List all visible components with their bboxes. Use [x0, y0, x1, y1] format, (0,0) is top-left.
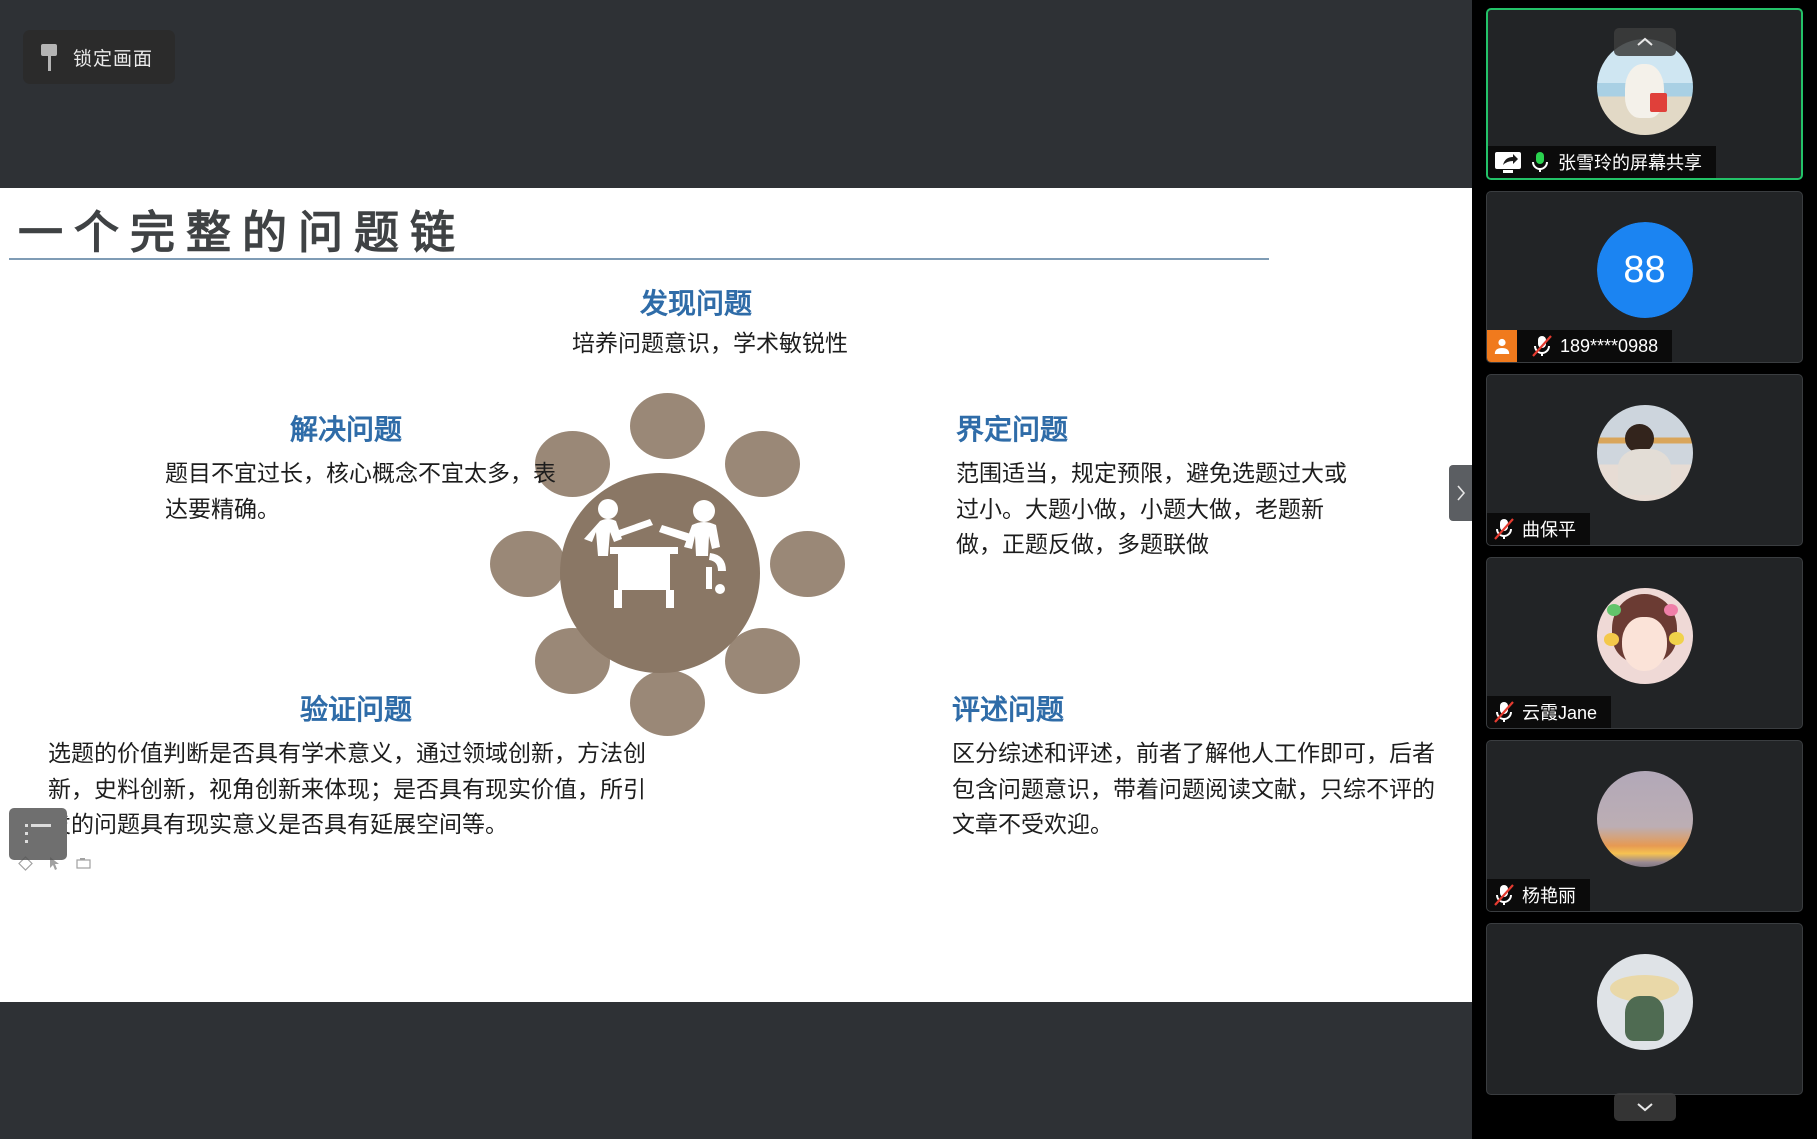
avatar-initials: 88 [1597, 222, 1693, 318]
participant-name-bar: 云霞Jane [1487, 696, 1611, 728]
participant-tile-partial[interactable] [1486, 923, 1803, 1095]
participant-sidebar[interactable]: 张雪玲的屏幕共享 88 [1472, 0, 1817, 1139]
sidebar-collapse-handle[interactable] [1449, 465, 1472, 521]
participant-name: 杨艳丽 [1522, 882, 1576, 908]
microphone-muted-icon [1531, 334, 1553, 358]
microphone-icon [1529, 150, 1551, 174]
cursor-icon[interactable] [47, 856, 62, 871]
participant-name: 张雪玲的屏幕共享 [1558, 149, 1702, 175]
title-divider [9, 258, 1269, 260]
slide-tool-strip[interactable] [18, 856, 91, 871]
page-title: 一个完整的问题链 [18, 196, 466, 261]
avatar [1597, 771, 1693, 867]
slide-menu-button[interactable] [9, 808, 67, 860]
diagram-satellite [490, 531, 565, 597]
pen-icon[interactable] [18, 856, 33, 871]
block-heading-discover: 发现问题 [640, 282, 752, 322]
participant-name-bar: 189****0988 [1487, 330, 1672, 362]
lock-screen-button[interactable]: 锁定画面 [23, 30, 175, 84]
block-body-discover: 培养问题意识，学术敏锐性 [572, 326, 992, 362]
diagram-satellite [770, 531, 845, 597]
two-people-at-desk-icon [578, 491, 744, 611]
share-top-bar: 锁定画面 [0, 0, 1472, 188]
participant-name: 189****0988 [1560, 336, 1658, 357]
scroll-up-button[interactable] [1614, 28, 1676, 56]
diagram-satellite [630, 670, 705, 736]
participant-tile-phone-user[interactable]: 88 189****0988 [1486, 191, 1803, 363]
diagram-satellite [630, 393, 705, 459]
block-body-verify: 选题的价值判断是否具有学术意义，通过领域创新，方法创新，史料创新，视角创新来体现… [48, 736, 648, 843]
block-heading-verify: 验证问题 [300, 688, 412, 728]
participant-name-bar: 张雪玲的屏幕共享 [1488, 146, 1716, 178]
block-body-define: 范围适当，规定预限，避免选题过大或过小。大题小做，小题大做，老题新做，正题反做，… [956, 456, 1356, 563]
block-heading-solve: 解决问题 [290, 408, 402, 448]
avatar [1597, 588, 1693, 684]
list-menu-icon [25, 824, 51, 844]
lock-screen-label: 锁定画面 [73, 44, 153, 71]
chevron-down-icon [1635, 1101, 1655, 1113]
avatar [1597, 405, 1693, 501]
block-heading-define: 界定问题 [956, 408, 1068, 448]
block-heading-review: 评述问题 [952, 688, 1064, 728]
microphone-muted-icon [1493, 700, 1515, 724]
share-bottom-bar [0, 1002, 1472, 1139]
participant-name-bar: 杨艳丽 [1487, 879, 1590, 911]
microphone-muted-icon [1493, 517, 1515, 541]
participant-name: 曲保平 [1522, 516, 1576, 542]
avatar [1597, 954, 1693, 1050]
block-body-solve: 题目不宜过长，核心概念不宜太多，表达要精确。 [165, 456, 565, 527]
person-icon [1487, 330, 1517, 362]
screen-share-icon [1494, 150, 1522, 174]
presentation-slide: 一个完整的问题链 [0, 188, 1472, 1002]
microphone-muted-icon [1493, 883, 1515, 907]
pin-icon [39, 42, 59, 72]
diagram-satellite [725, 431, 800, 497]
question-chain-diagram [530, 353, 930, 753]
participant-tile-yangyanli[interactable]: 杨艳丽 [1486, 740, 1803, 912]
meeting-window: 锁定画面 一个完整的问题链 [0, 0, 1817, 1139]
block-body-review: 区分综述和评述，前者了解他人工作即可，后者包含问题意识，带着问题阅读文献，只综不… [952, 736, 1442, 843]
avatar: 88 [1597, 222, 1693, 318]
chevron-right-icon [1456, 485, 1466, 501]
chevron-up-icon [1635, 36, 1655, 48]
participant-name: 云霞Jane [1522, 699, 1597, 725]
participant-tile-yunxiajane[interactable]: 云霞Jane [1486, 557, 1803, 729]
camera-icon[interactable] [76, 856, 91, 871]
shared-screen-area: 锁定画面 一个完整的问题链 [0, 0, 1472, 1139]
scroll-down-button[interactable] [1614, 1093, 1676, 1121]
participant-name-bar: 曲保平 [1487, 513, 1590, 545]
participant-tile-qubaoping[interactable]: 曲保平 [1486, 374, 1803, 546]
diagram-satellite [725, 628, 800, 694]
